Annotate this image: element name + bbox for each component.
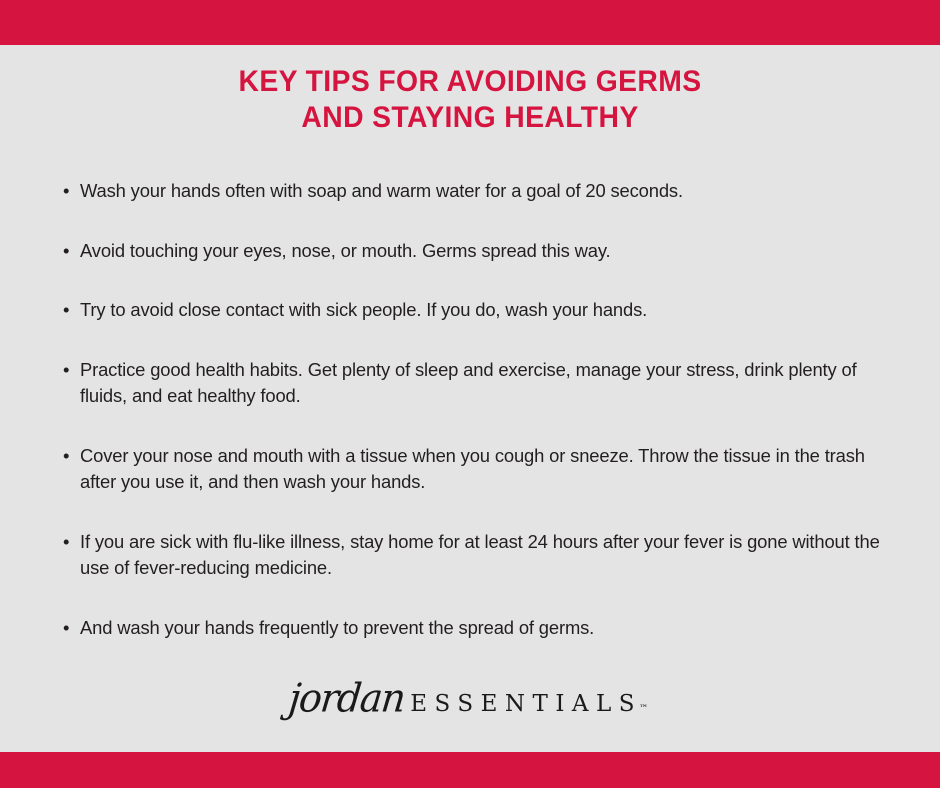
page-title-line-2: AND STAYING HEALTHY — [19, 100, 921, 136]
bullet-icon: • — [63, 615, 69, 642]
logo-script-word: jordan — [287, 675, 413, 721]
tips-list: • Wash your hands often with soap and wa… — [0, 178, 940, 641]
list-item: • Try to avoid close contact with sick p… — [63, 297, 898, 324]
bullet-icon: • — [63, 178, 69, 205]
list-item-text: Cover your nose and mouth with a tissue … — [80, 445, 865, 493]
list-item-text: And wash your hands frequently to preven… — [80, 617, 594, 638]
flyer-page: KEY TIPS FOR AVOIDING GERMS AND STAYING … — [0, 0, 940, 788]
list-item: • Avoid touching your eyes, nose, or mou… — [63, 238, 898, 265]
page-title: KEY TIPS FOR AVOIDING GERMS AND STAYING … — [0, 45, 940, 136]
list-item: • And wash your hands frequently to prev… — [63, 615, 898, 642]
page-title-line-1: KEY TIPS FOR AVOIDING GERMS — [19, 64, 921, 100]
list-item-text: Wash your hands often with soap and warm… — [80, 180, 683, 201]
list-item: • Wash your hands often with soap and wa… — [63, 178, 898, 205]
list-item-text: Try to avoid close contact with sick peo… — [80, 299, 647, 320]
list-item-text: Practice good health habits. Get plenty … — [80, 359, 857, 407]
list-item: • Practice good health habits. Get plent… — [63, 357, 898, 410]
bullet-icon: • — [63, 529, 69, 556]
bullet-icon: • — [63, 443, 69, 470]
trademark-icon: ™ — [639, 704, 648, 714]
bullet-icon: • — [63, 297, 69, 324]
bullet-icon: • — [63, 238, 69, 265]
brand-logo: jordan ESSENTIALS ™ — [0, 674, 940, 718]
flyer-content: KEY TIPS FOR AVOIDING GERMS AND STAYING … — [0, 45, 940, 752]
list-item-text: Avoid touching your eyes, nose, or mouth… — [80, 240, 610, 261]
bullet-icon: • — [63, 357, 69, 384]
list-item: • If you are sick with flu-like illness,… — [63, 529, 898, 582]
list-item: • Cover your nose and mouth with a tissu… — [63, 443, 898, 496]
bottom-accent-bar — [0, 752, 940, 788]
list-item-text: If you are sick with flu-like illness, s… — [80, 531, 880, 579]
logo-serif-word: ESSENTIALS — [410, 691, 642, 717]
top-accent-bar — [0, 0, 940, 45]
